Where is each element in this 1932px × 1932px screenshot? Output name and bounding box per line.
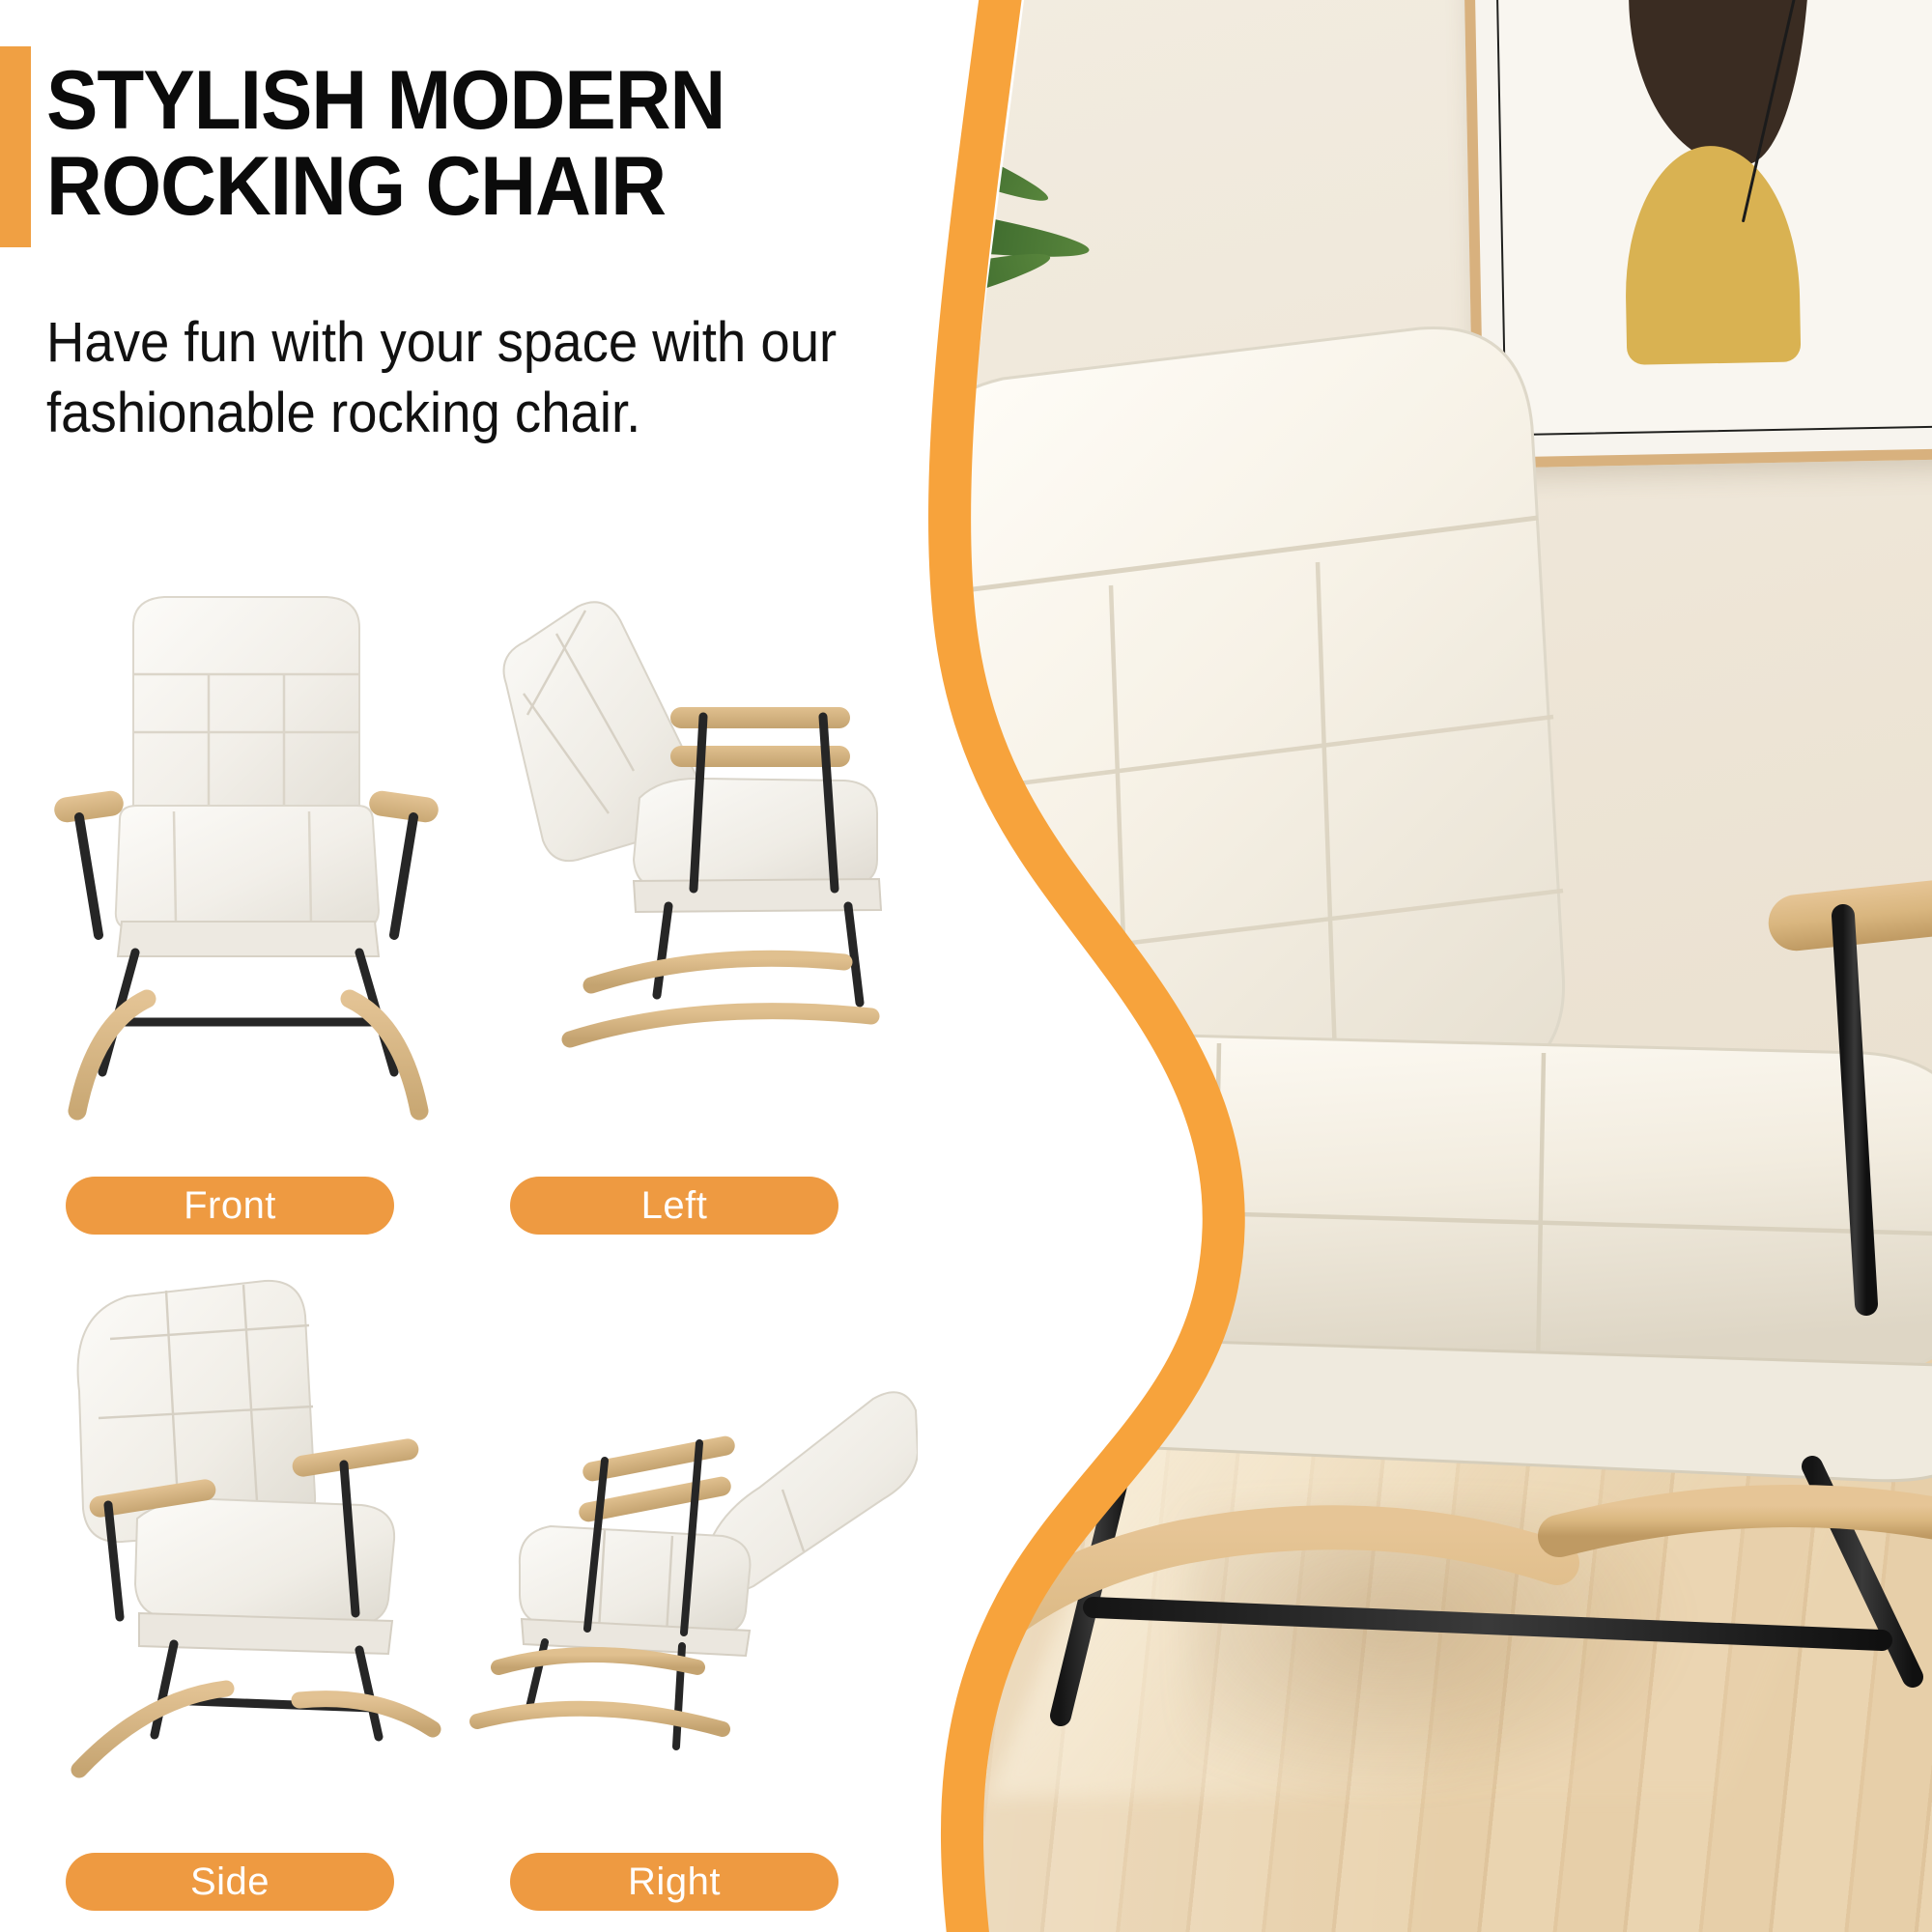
thumbnail-side[interactable]: Side — [19, 1246, 473, 1922]
thumbnail-row: Front — [0, 570, 966, 1246]
seat-cushion — [985, 1036, 1932, 1378]
badge-side[interactable]: Side — [66, 1853, 394, 1911]
hero-rocking-chair — [898, 290, 1932, 1835]
chair-left-image — [464, 570, 918, 1130]
page-subtitle: Have fun with your space with our fashio… — [46, 307, 845, 448]
plant-frond-icon — [898, 101, 1055, 216]
hero-photo-panel — [898, 0, 1932, 1932]
orange-accent-bar — [0, 46, 31, 247]
plant-frond-icon — [898, 39, 998, 171]
rocker-front — [898, 1527, 1557, 1808]
plant-frond-icon — [898, 288, 976, 412]
hero-photo — [898, 0, 1932, 1932]
thumbnail-front[interactable]: Front — [19, 570, 473, 1246]
view-thumbnail-grid: Front — [0, 570, 966, 1922]
chair-side-image — [19, 1246, 473, 1806]
backrest-cushion — [898, 327, 1564, 1151]
badge-left[interactable]: Left — [510, 1177, 838, 1235]
left-content-panel: STYLISH MODERN ROCKING CHAIR Have fun wi… — [0, 0, 985, 1932]
thumbnail-row: Side — [0, 1246, 966, 1922]
room-scene — [898, 0, 1932, 1932]
product-poster: STYLISH MODERN ROCKING CHAIR Have fun wi… — [0, 0, 1932, 1932]
chair-front-image — [19, 570, 473, 1130]
chair-right-image — [464, 1246, 918, 1806]
thumbnail-right[interactable]: Right — [464, 1246, 918, 1922]
thumbnail-left[interactable]: Left — [464, 570, 918, 1246]
page-title: STYLISH MODERN ROCKING CHAIR — [46, 58, 855, 231]
rocker-back — [1559, 1506, 1932, 1536]
badge-front[interactable]: Front — [66, 1177, 394, 1235]
badge-right[interactable]: Right — [510, 1853, 838, 1911]
armrest-left — [898, 959, 1133, 1065]
